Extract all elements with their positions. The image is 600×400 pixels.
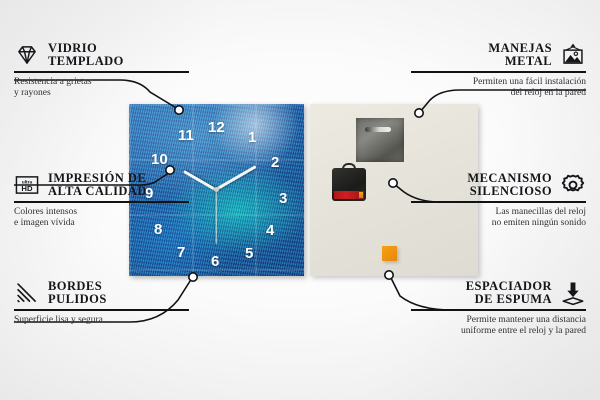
foam-spacer-icon bbox=[560, 280, 586, 306]
feature-description: Permite mantener una distancia uniforme … bbox=[411, 315, 586, 338]
svg-text:HD: HD bbox=[21, 184, 33, 193]
connector-dot-espuma bbox=[385, 271, 393, 279]
feature-impresion-alta-calidad: ultra HD IMPRESIÓN DE ALTA CALIDAD Color… bbox=[14, 172, 189, 230]
feature-title: ESPACIADOR DE ESPUMA bbox=[466, 280, 552, 306]
connector-dot-mecanismo bbox=[389, 179, 397, 187]
feature-divider bbox=[411, 201, 586, 203]
connector-dot-vidrio bbox=[175, 106, 183, 114]
feature-bordes-pulidos: BORDES PULIDOS Superficie lisa y segura bbox=[14, 280, 189, 326]
feature-description: Las manecillas del reloj no emiten ningú… bbox=[411, 207, 586, 230]
ultra-hd-icon: ultra HD bbox=[14, 172, 40, 198]
feature-title: MECANISMO SILENCIOSO bbox=[467, 172, 552, 198]
feature-manejas-metal: MANEJAS METAL Permiten una fácil instala… bbox=[411, 42, 586, 100]
feature-vidrio-templado: VIDRIO TEMPLADO Resistencia a grietas y … bbox=[14, 42, 189, 100]
wall-frame-icon bbox=[560, 42, 586, 68]
connector-dot-bordes bbox=[189, 273, 197, 281]
diamond-icon bbox=[14, 42, 40, 68]
connector-dot-manejas bbox=[415, 109, 423, 117]
polished-edges-icon bbox=[14, 280, 40, 306]
feature-divider bbox=[411, 71, 586, 73]
infographic-canvas: 12 1 2 3 4 5 6 7 8 9 10 11 bbox=[0, 0, 600, 400]
feature-heading: MANEJAS METAL bbox=[411, 42, 586, 68]
feature-divider bbox=[14, 309, 189, 311]
feature-title: MANEJAS METAL bbox=[488, 42, 552, 68]
feature-divider bbox=[14, 201, 189, 203]
feature-mecanismo-silencioso: MECANISMO SILENCIOSO Las manecillas del … bbox=[411, 172, 586, 230]
feature-description: Resistencia a grietas y rayones bbox=[14, 77, 189, 100]
feature-title: IMPRESIÓN DE ALTA CALIDAD bbox=[48, 172, 147, 198]
feature-heading: ultra HD IMPRESIÓN DE ALTA CALIDAD bbox=[14, 172, 189, 198]
feature-description: Superficie lisa y segura bbox=[14, 315, 189, 327]
feature-heading: VIDRIO TEMPLADO bbox=[14, 42, 189, 68]
feature-espaciador-espuma: ESPACIADOR DE ESPUMA Permite mantener un… bbox=[411, 280, 586, 338]
feature-divider bbox=[14, 71, 189, 73]
feature-heading: BORDES PULIDOS bbox=[14, 280, 189, 306]
feature-heading: ESPACIADOR DE ESPUMA bbox=[411, 280, 586, 306]
feature-title: VIDRIO TEMPLADO bbox=[48, 42, 124, 68]
gear-icon bbox=[560, 172, 586, 198]
feature-description: Permiten una fácil instalación del reloj… bbox=[411, 77, 586, 100]
feature-title: BORDES PULIDOS bbox=[48, 280, 107, 306]
feature-divider bbox=[411, 309, 586, 311]
feature-description: Colores intensos e imagen vívida bbox=[14, 207, 189, 230]
feature-heading: MECANISMO SILENCIOSO bbox=[411, 172, 586, 198]
